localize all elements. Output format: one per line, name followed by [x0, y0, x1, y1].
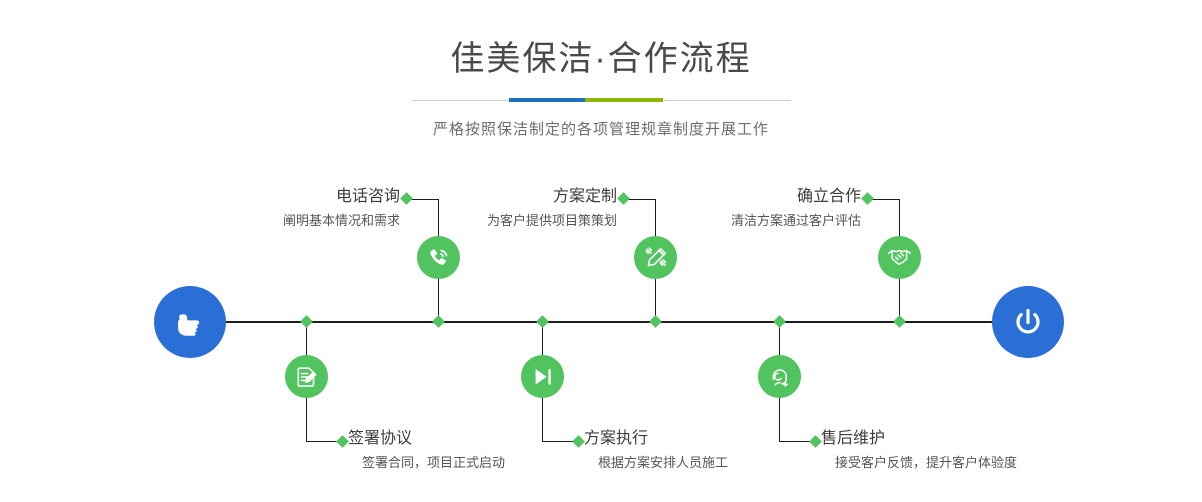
axis-diamond-1 — [432, 315, 445, 328]
step-icon-1 — [417, 236, 460, 279]
connector-vertical-6b — [779, 398, 780, 442]
step-desc-6: 接受客户反馈，提升客户体验度 — [835, 453, 1017, 473]
title-divider — [411, 96, 791, 106]
label-diamond-3 — [617, 192, 630, 205]
phone-call-icon — [426, 245, 452, 271]
label-diamond-5 — [861, 192, 874, 205]
step-desc-5: 清洁方案通过客户评估 — [651, 211, 861, 231]
step-icon-4 — [521, 355, 564, 398]
step-desc-4: 根据方案安排人员施工 — [598, 453, 728, 473]
step-title-5: 确立合作 — [651, 187, 861, 207]
label-diamond-6 — [809, 435, 822, 448]
play-execute-icon — [530, 364, 556, 390]
connector-vertical-5 — [899, 199, 900, 237]
divider-green-segment — [585, 98, 663, 102]
divider-blue-segment — [509, 98, 585, 102]
axis-diamond-4 — [536, 315, 549, 328]
timeline-end-node — [992, 286, 1064, 358]
page-title: 佳美保洁·合作流程 — [0, 0, 1202, 80]
handshake-icon — [886, 244, 913, 271]
label-diamond-2 — [336, 435, 349, 448]
step-label-4: 方案执行 根据方案安排人员施工 — [584, 429, 728, 473]
step-icon-6 — [758, 355, 801, 398]
step-label-1: 电话咨询 阐明基本情况和需求 — [190, 187, 400, 231]
axis-diamond-6 — [773, 315, 786, 328]
step-desc-2: 签署合同，项目正式启动 — [362, 453, 505, 473]
step-title-3: 方案定制 — [407, 187, 617, 207]
step-title-4: 方案执行 — [584, 429, 728, 449]
step-desc-3: 为客户提供项目策策划 — [407, 211, 617, 231]
power-icon — [1008, 302, 1048, 342]
page-header: 佳美保洁·合作流程 严格按照保洁制定的各项管理规章制度开展工作 — [0, 0, 1202, 139]
connector-vertical-2b — [306, 398, 307, 442]
step-title-6: 售后维护 — [821, 429, 1017, 449]
step-label-3: 方案定制 为客户提供项目策策划 — [407, 187, 617, 231]
step-icon-5 — [878, 236, 921, 279]
step-label-2: 签署协议 签署合同，项目正式启动 — [348, 429, 505, 473]
step-title-1: 电话咨询 — [190, 187, 400, 207]
step-desc-1: 阐明基本情况和需求 — [190, 211, 400, 231]
flow-diagram-page: 佳美保洁·合作流程 严格按照保洁制定的各项管理规章制度开展工作 — [0, 0, 1202, 502]
step-label-6: 售后维护 接受客户反馈，提升客户体验度 — [821, 429, 1017, 473]
document-sign-icon — [294, 364, 320, 390]
axis-diamond-2 — [300, 315, 313, 328]
label-diamond-4 — [572, 435, 585, 448]
hand-point-right-icon — [170, 302, 210, 342]
step-title-2: 签署协议 — [348, 429, 505, 449]
axis-diamond-3 — [649, 315, 662, 328]
connector-vertical-4b — [542, 398, 543, 442]
page-subtitle: 严格按照保洁制定的各项管理规章制度开展工作 — [0, 118, 1202, 139]
axis-diamond-5 — [893, 315, 906, 328]
pencil-ruler-icon — [643, 245, 669, 271]
timeline-start-node — [154, 286, 226, 358]
step-icon-3 — [634, 236, 677, 279]
headset-support-add-icon — [767, 364, 793, 390]
step-icon-2 — [285, 355, 328, 398]
step-label-5: 确立合作 清洁方案通过客户评估 — [651, 187, 861, 231]
